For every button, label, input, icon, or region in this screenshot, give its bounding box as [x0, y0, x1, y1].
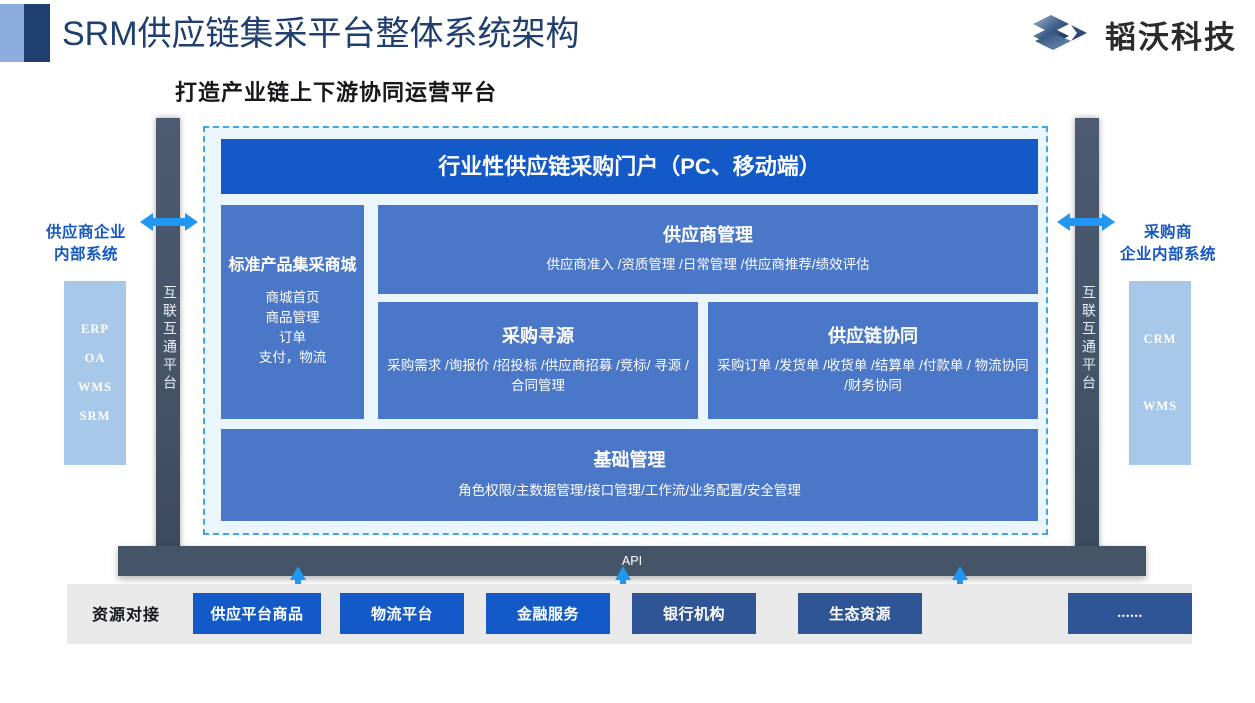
- left-systems-caption: 供应商企业 内部系统: [26, 222, 146, 267]
- left-system-item: OA: [85, 344, 106, 373]
- resource-button-bank[interactable]: 银行机构: [632, 593, 756, 634]
- header-accent-light: [0, 4, 24, 62]
- block-base-management-items: 角色权限/主数据管理/接口管理/工作流/业务配置/安全管理: [458, 481, 801, 501]
- right-system-item: WMS: [1143, 373, 1177, 440]
- chevron-logo-icon: [1025, 13, 1091, 55]
- right-system-item: CRM: [1144, 306, 1177, 373]
- left-system-item: WMS: [78, 373, 112, 402]
- resource-strip-label: 资源对接: [92, 601, 160, 625]
- block-supplier-management-items: 供应商准入 /资质管理 /日常管理 /供应商推荐/绩效评估: [546, 255, 869, 275]
- interconnect-bar-left: 互联互通平台: [156, 118, 180, 560]
- resource-button-finance[interactable]: 金融服务: [486, 593, 610, 634]
- left-system-item: ERP: [81, 315, 109, 344]
- block-supply-chain-collaboration-items: 采购订单 /发货单 /收货单 /结算单 /付款单 / 物流协同 /财务协同: [716, 356, 1030, 397]
- block-standard-mall-items: 商城首页 商品管理 订单 支付，物流: [259, 288, 327, 369]
- slide-canvas: SRM供应链集采平台整体系统架构 韬沃科技 打造产业链上下游协同运营平台 行业性…: [0, 0, 1255, 703]
- resource-button-label: 生态资源: [829, 603, 891, 624]
- block-sourcing-title: 采购寻源: [502, 325, 574, 348]
- block-portal-title: 行业性供应链采购门户（PC、移动端）: [438, 153, 821, 181]
- resource-button-label: 银行机构: [663, 603, 725, 624]
- page-title: SRM供应链集采平台整体系统架构: [62, 8, 822, 60]
- block-portal[interactable]: 行业性供应链采购门户（PC、移动端）: [221, 139, 1038, 194]
- block-base-management-title: 基础管理: [594, 449, 666, 472]
- right-systems-caption: 采购商 企业内部系统: [1103, 222, 1233, 267]
- interconnect-bar-left-label: 互联互通平台: [161, 285, 175, 393]
- left-systems-box: ERP OA WMS SRM: [64, 281, 126, 465]
- resource-button-label: 物流平台: [371, 603, 433, 624]
- resource-button-label: 供应平台商品: [210, 603, 303, 624]
- interconnect-bar-right: 互联互通平台: [1075, 118, 1099, 560]
- header-accent-dark: [24, 4, 50, 62]
- left-system-item: SRM: [80, 402, 111, 431]
- resource-button-label: 金融服务: [517, 603, 579, 624]
- double-arrow-left-icon: [140, 211, 198, 233]
- slide-subtitle: 打造产业链上下游协同运营平台: [175, 75, 497, 107]
- interconnect-bar-right-label: 互联互通平台: [1080, 285, 1094, 393]
- resource-button-ecosystem[interactable]: 生态资源: [798, 593, 922, 634]
- block-standard-mall[interactable]: 标准产品集采商城 商城首页 商品管理 订单 支付，物流: [221, 205, 364, 419]
- block-sourcing-items: 采购需求 /询报价 /招投标 /供应商招募 /竞标/ 寻源 /合同管理: [386, 356, 690, 397]
- resource-button-more[interactable]: ......: [1068, 593, 1192, 634]
- block-supply-chain-collaboration-title: 供应链协同: [828, 325, 918, 348]
- block-supply-chain-collaboration[interactable]: 供应链协同 采购订单 /发货单 /收货单 /结算单 /付款单 / 物流协同 /财…: [708, 302, 1038, 419]
- resource-button-logistics[interactable]: 物流平台: [340, 593, 464, 634]
- brand-logo: 韬沃科技: [1025, 8, 1237, 60]
- block-base-management[interactable]: 基础管理 角色权限/主数据管理/接口管理/工作流/业务配置/安全管理: [221, 429, 1038, 521]
- right-systems-box: CRM WMS: [1129, 281, 1191, 465]
- resource-button-label: ......: [1117, 605, 1143, 622]
- block-supplier-management[interactable]: 供应商管理 供应商准入 /资质管理 /日常管理 /供应商推荐/绩效评估: [378, 205, 1038, 294]
- block-sourcing[interactable]: 采购寻源 采购需求 /询报价 /招投标 /供应商招募 /竞标/ 寻源 /合同管理: [378, 302, 698, 419]
- brand-name: 韬沃科技: [1105, 12, 1237, 57]
- block-standard-mall-title: 标准产品集采商城: [228, 256, 356, 276]
- resource-button-supply-goods[interactable]: 供应平台商品: [193, 593, 321, 634]
- block-supplier-management-title: 供应商管理: [663, 224, 753, 247]
